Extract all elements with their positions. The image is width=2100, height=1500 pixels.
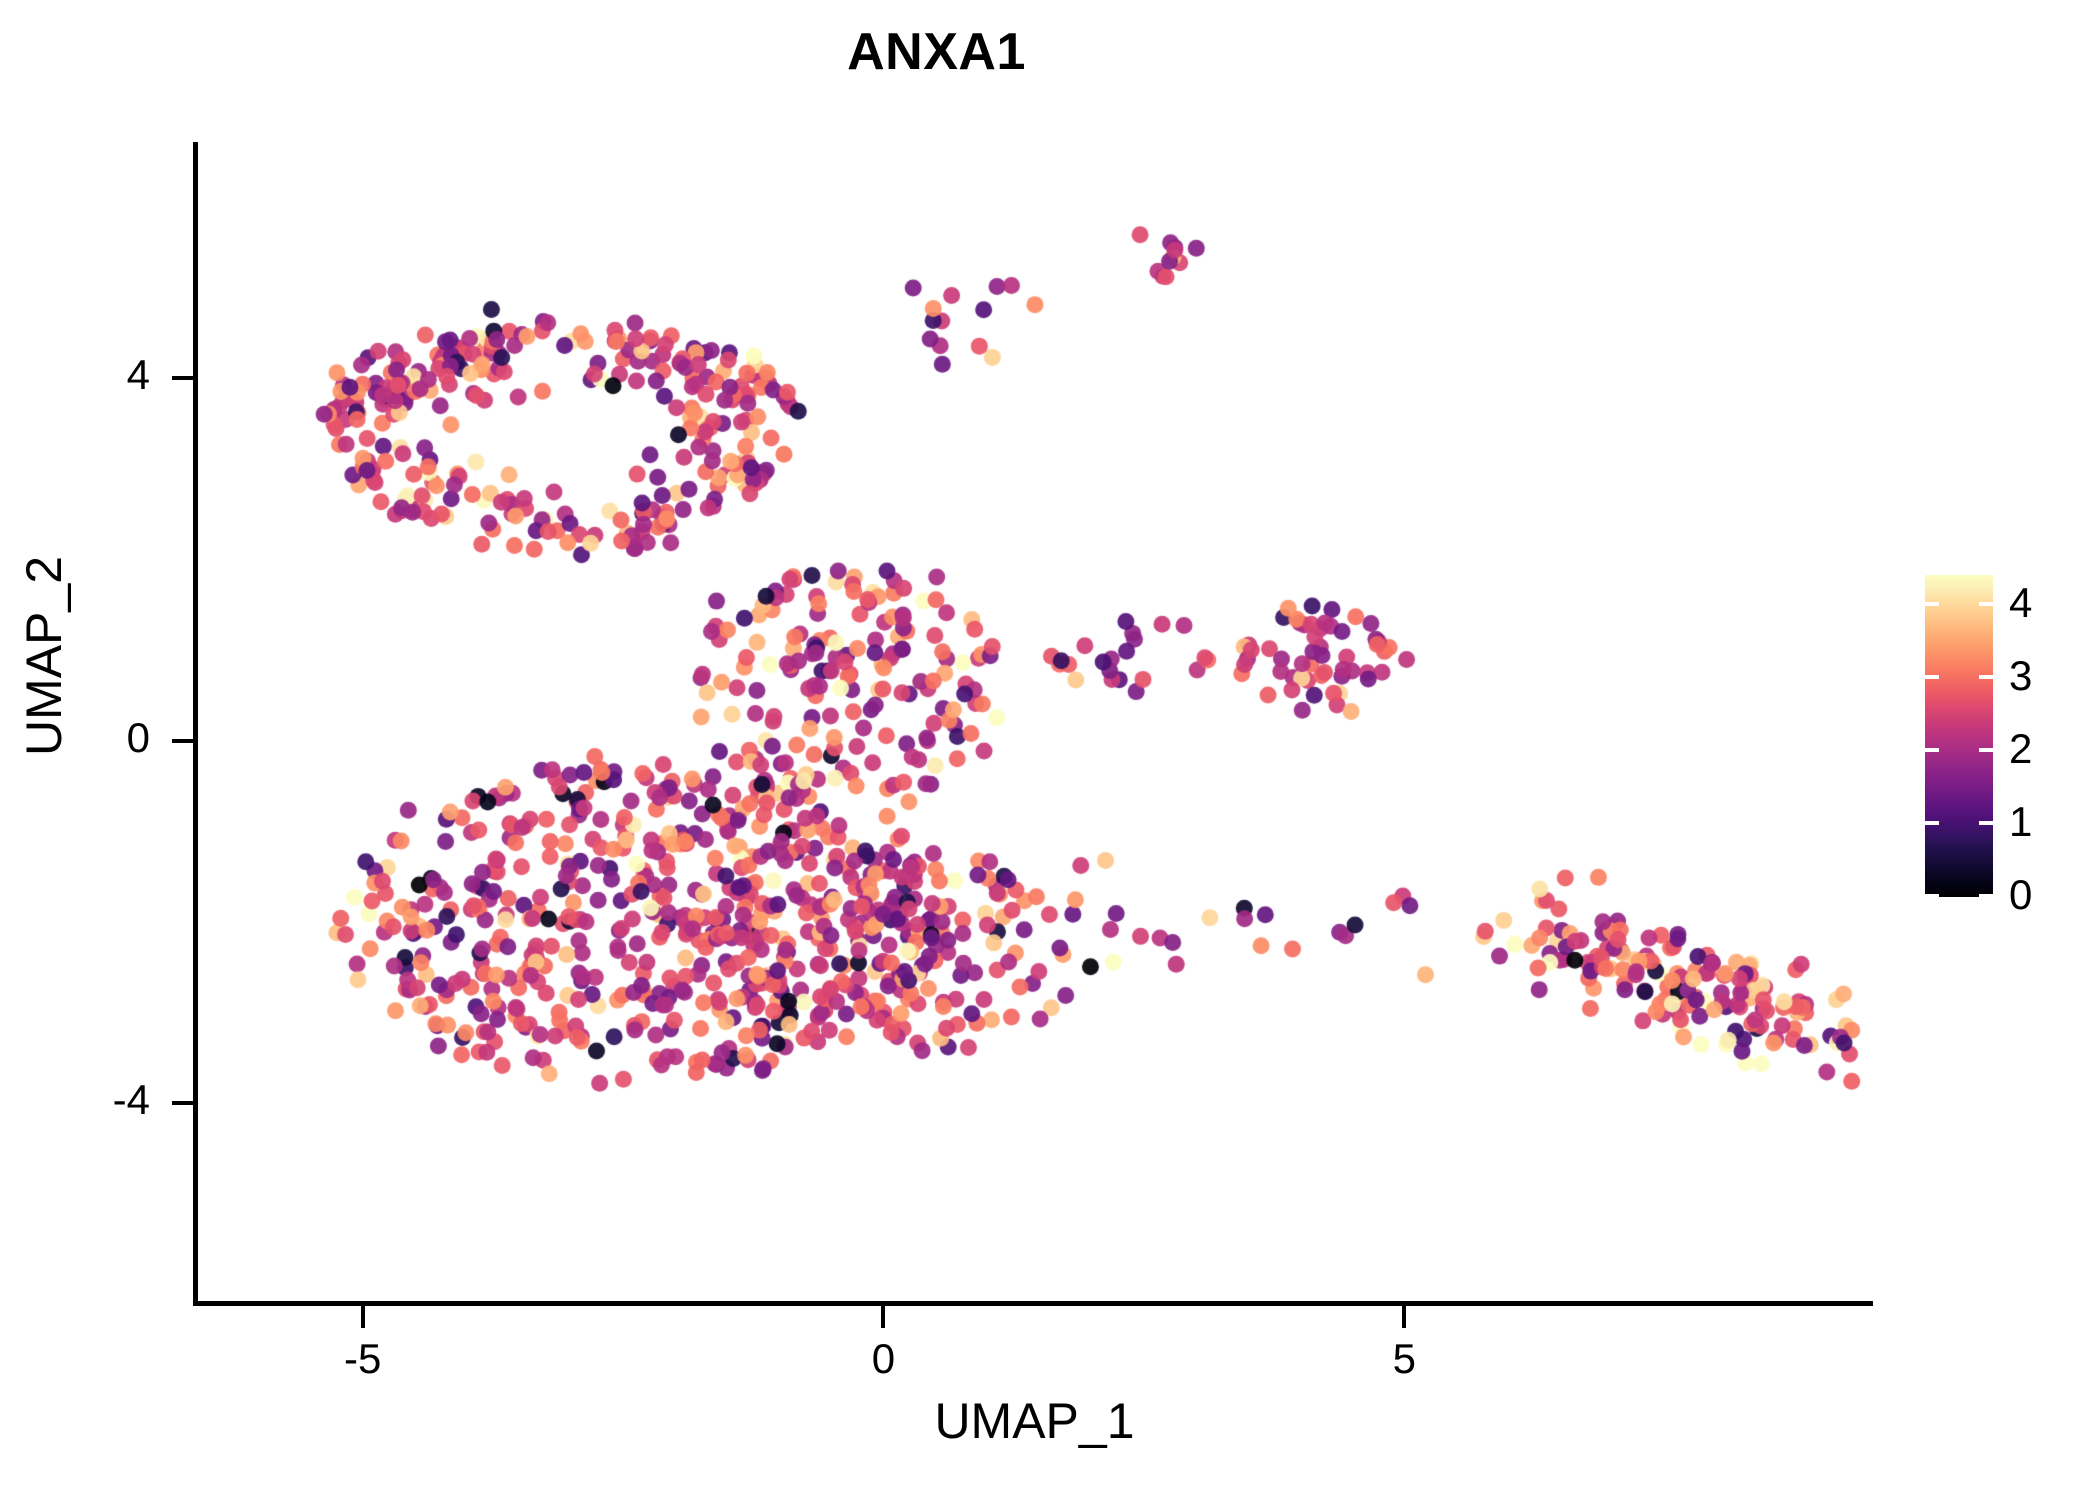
- colorbar-tick-label: 3: [2009, 655, 2079, 697]
- colorbar-tick-label: 0: [2009, 874, 2079, 916]
- page-title: ANXA1: [0, 22, 1873, 82]
- y-axis-tick-mark: [172, 1101, 194, 1105]
- colorbar-tick-mark: [1925, 894, 1939, 898]
- colorbar-tick-mark: [1979, 821, 1993, 825]
- umap-feature-plot: ANXA1 4 0 -4 -5 0 5 UMAP_2 UMAP_1 4 3 2 …: [0, 0, 2100, 1500]
- x-axis-tick-mark: [361, 1306, 365, 1328]
- colorbar-tick-label: 2: [2009, 728, 2079, 770]
- y-axis-line: [193, 142, 198, 1306]
- colorbar-tick-mark: [1979, 748, 1993, 752]
- y-axis-tick-mark: [172, 376, 194, 380]
- y-axis-title: UMAP_2: [15, 426, 73, 886]
- x-axis-tick-mark: [881, 1306, 885, 1328]
- x-axis-tick-label: 5: [1334, 1338, 1474, 1380]
- y-axis-tick-mark: [172, 739, 194, 743]
- plot-panel: [196, 142, 1873, 1303]
- y-axis-tick-label: -4: [10, 1079, 150, 1121]
- x-axis-tick-label: 0: [813, 1338, 953, 1380]
- x-axis-title: UMAP_1: [196, 1392, 1873, 1450]
- x-axis-tick-mark: [1402, 1306, 1406, 1328]
- x-axis-line: [193, 1301, 1873, 1306]
- x-axis-tick-label: -5: [293, 1338, 433, 1380]
- colorbar-tick-label: 1: [2009, 801, 2079, 843]
- colorbar-tick-label: 4: [2009, 582, 2079, 624]
- colorbar-tick-mark: [1925, 821, 1939, 825]
- colorbar-tick-mark: [1979, 602, 1993, 606]
- colorbar-gradient: [1925, 575, 1993, 897]
- scatter-plot-canvas: [196, 142, 1873, 1303]
- colorbar-tick-mark: [1925, 602, 1939, 606]
- colorbar-tick-mark: [1979, 675, 1993, 679]
- colorbar-legend: 4 3 2 1 0: [1925, 575, 2075, 905]
- colorbar-tick-mark: [1979, 894, 1993, 898]
- colorbar-tick-mark: [1925, 675, 1939, 679]
- colorbar-tick-mark: [1925, 748, 1939, 752]
- y-axis-tick-label: 4: [10, 354, 150, 396]
